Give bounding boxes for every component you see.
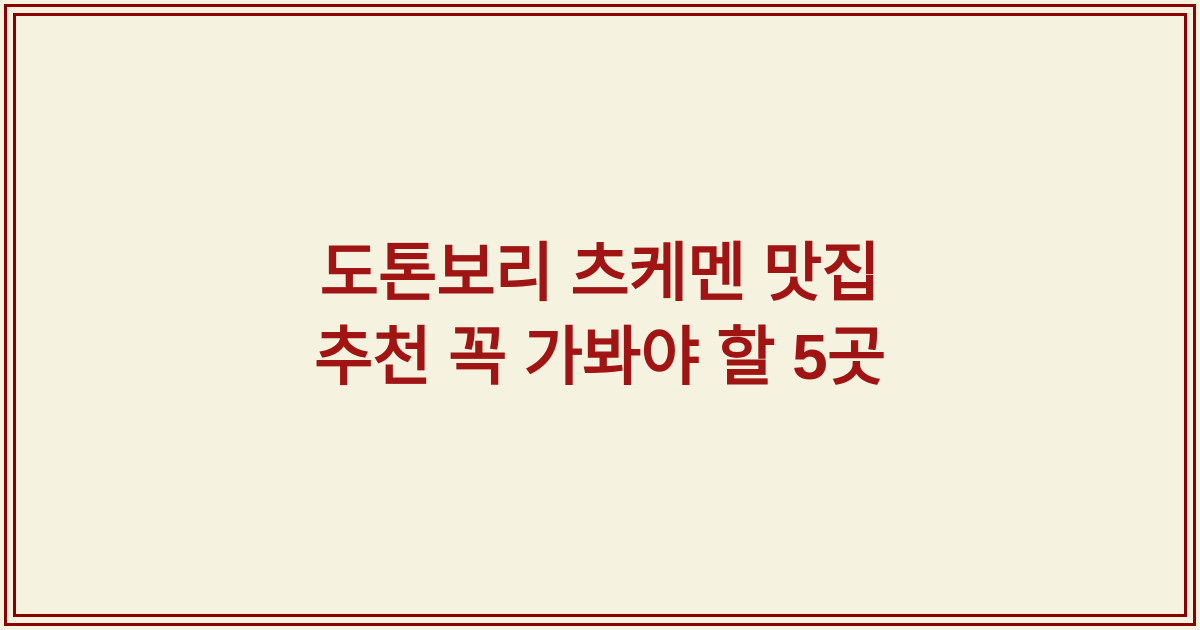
title-line-1: 도톤보리 츠케멘 맛집: [314, 231, 885, 315]
title-stage: 도톤보리 츠케멘 맛집 추천 꼭 가봐야 할 5곳: [0, 0, 1200, 630]
page-title: 도톤보리 츠케멘 맛집 추천 꼭 가봐야 할 5곳: [314, 231, 885, 400]
title-line-2: 추천 꼭 가봐야 할 5곳: [314, 315, 885, 399]
thumbnail-card: 도톤보리 츠케멘 맛집 추천 꼭 가봐야 할 5곳: [0, 0, 1200, 630]
